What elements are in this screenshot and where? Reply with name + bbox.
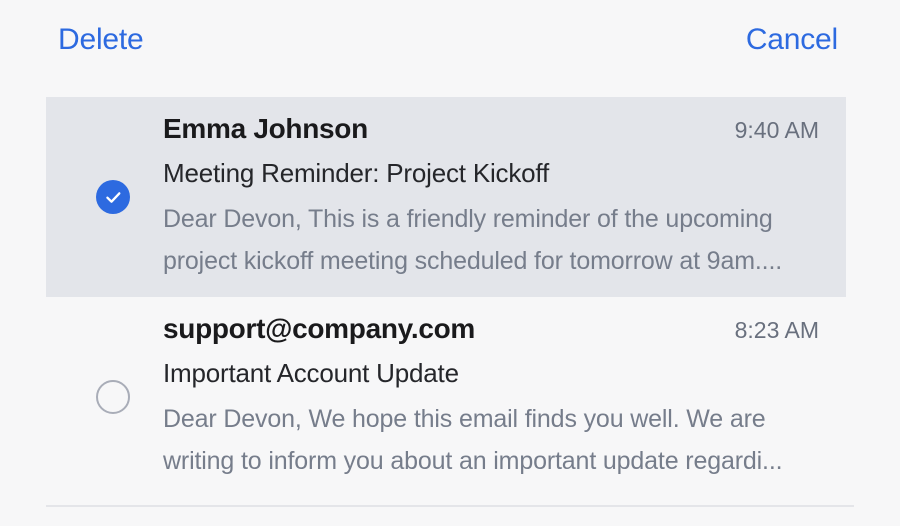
mail-item-header: Emma Johnson 9:40 AM — [163, 113, 819, 145]
mail-subject: Meeting Reminder: Project Kickoff — [163, 158, 819, 189]
mail-list: Emma Johnson 9:40 AM Meeting Reminder: P… — [0, 97, 900, 497]
mail-sender: support@company.com — [163, 313, 475, 345]
mail-list-item[interactable]: Emma Johnson 9:40 AM Meeting Reminder: P… — [46, 97, 846, 297]
mail-sender: Emma Johnson — [163, 113, 368, 145]
check-circle-filled-icon[interactable] — [96, 180, 130, 214]
mail-subject: Important Account Update — [163, 358, 819, 389]
cancel-button[interactable]: Cancel — [746, 25, 838, 55]
mail-list-item[interactable]: support@company.com 8:23 AM Important Ac… — [46, 297, 846, 497]
mail-preview: Dear Devon, We hope this email finds you… — [163, 398, 819, 482]
mail-preview: Dear Devon, This is a friendly reminder … — [163, 198, 819, 282]
circle-outline-icon[interactable] — [96, 380, 130, 414]
mail-item-body: Emma Johnson 9:40 AM Meeting Reminder: P… — [163, 113, 819, 282]
mail-item-header: support@company.com 8:23 AM — [163, 313, 819, 345]
mail-item-body: support@company.com 8:23 AM Important Ac… — [163, 313, 819, 482]
mail-timestamp: 8:23 AM — [717, 317, 819, 344]
list-divider — [46, 505, 854, 507]
delete-button[interactable]: Delete — [58, 25, 144, 55]
mail-timestamp: 9:40 AM — [717, 117, 819, 144]
selection-toolbar: Delete Cancel — [0, 0, 900, 80]
